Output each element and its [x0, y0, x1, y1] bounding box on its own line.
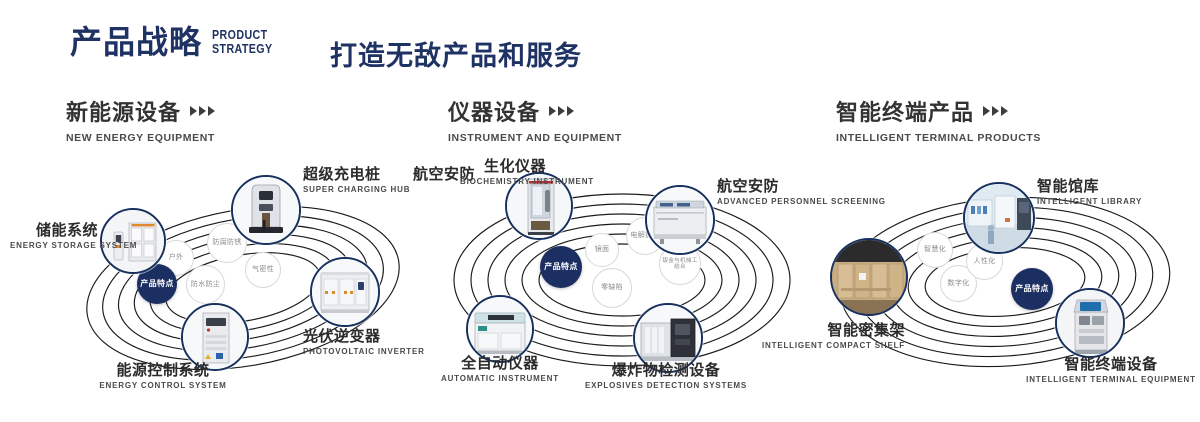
- node-label-cn: 生化仪器: [460, 158, 570, 175]
- cluster-intelligent-terminal: 智慧化 数字化 人性化 产品特点 智能馆库 INTELLIGENT: [815, 160, 1200, 420]
- product-strategy-infographic: 产品战略 PRODUCT STRATEGY 打造无敌产品和服务 新能源设备 NE…: [0, 0, 1200, 422]
- node-label-en: ENERGY STORAGE SYSTEM: [10, 241, 98, 251]
- node-caption-automatic-instrument: 全自动仪器 AUTOMATIC INSTRUMENT: [425, 355, 575, 384]
- core-bubble: 产品特点: [1011, 268, 1053, 310]
- screening-machine-icon: [647, 187, 713, 253]
- node-label-cn: 智能馆库: [1037, 178, 1142, 195]
- cluster-new-energy: 户外 防腐防锈 防水防尘 气密性 产品特点 储能系统 ENERGY STORAG…: [55, 160, 455, 420]
- section-heading-en: INSTRUMENT AND EQUIPMENT: [448, 132, 622, 144]
- node-label-en: EXPLOSIVES DETECTION SYSTEMS: [576, 381, 756, 391]
- node-bubble-compact-shelf[interactable]: [830, 238, 908, 316]
- control-cabinet-icon: [183, 305, 247, 369]
- node-label-cn: 光伏逆变器: [303, 328, 425, 345]
- section-heading-intelligent-terminal: 智能终端产品 INTELLIGENT TERMINAL PRODUCTS: [836, 95, 1041, 144]
- headline: 打造无敌产品和服务: [330, 34, 582, 73]
- section-heading-cn: 仪器设备: [448, 95, 622, 127]
- node-caption-intelligent-library: 智能馆库 INTELLIGENT LIBRARY: [1037, 178, 1142, 207]
- feature-bubble: 气密性: [245, 252, 281, 288]
- node-caption-energy-control: 能源控制系统 ENERGY CONTROL SYSTEM: [73, 362, 253, 391]
- feature-bubble: 智慧化: [917, 232, 953, 268]
- section-heading-cn: 智能终端产品: [836, 95, 1041, 127]
- library-interior-icon: [965, 184, 1033, 252]
- section-heading-en: INTELLIGENT TERMINAL PRODUCTS: [836, 132, 1041, 144]
- node-label-en: INTELLIGENT LIBRARY: [1037, 197, 1142, 207]
- section-heading-cn-text: 智能终端产品: [836, 95, 974, 127]
- cluster-instrument: 镜面 电解抛光 钣金与机械工结合 零缺陷 产品特点 航空安防 生化仪器 BIOC…: [430, 160, 830, 420]
- feature-bubble: 镜面: [585, 233, 619, 267]
- node-label-cn: 爆炸物检测设备: [576, 362, 756, 379]
- node-label-cn: 全自动仪器: [425, 355, 575, 372]
- node-label-en: AUTOMATIC INSTRUMENT: [425, 374, 575, 384]
- section-heading-cn: 新能源设备: [66, 95, 215, 127]
- brand-title-en-line1: PRODUCT: [212, 28, 273, 42]
- section-heading-cn-text: 仪器设备: [448, 95, 540, 127]
- feature-bubble: 防水防尘: [186, 265, 225, 304]
- section-heading-en: NEW ENERGY EQUIPMENT: [66, 132, 215, 144]
- section-heading-instrument: 仪器设备 INSTRUMENT AND EQUIPMENT: [448, 95, 622, 144]
- brand-title-cn: 产品战略: [70, 26, 202, 58]
- node-caption-terminal-equipment: 智能终端设备 INTELLIGENT TERMINAL EQUIPMENT: [1011, 356, 1200, 385]
- node-bubble-automatic-instrument[interactable]: [466, 295, 534, 363]
- section-heading-new-energy: 新能源设备 NEW ENERGY EQUIPMENT: [66, 95, 215, 144]
- node-bubble-pv-inverter[interactable]: [310, 257, 380, 327]
- brand-title-en-line2: STRATEGY: [212, 42, 273, 56]
- node-label-en: ENERGY CONTROL SYSTEM: [73, 381, 253, 391]
- node-bubble-charging-hub[interactable]: [231, 175, 301, 245]
- node-bubble-energy-control[interactable]: [181, 303, 249, 371]
- charging-pile-icon: [233, 177, 299, 243]
- node-label-cn: 储能系统: [10, 222, 98, 239]
- node-caption-pv-inverter: 光伏逆变器 PHOTOVOLTAIC INVERTER: [303, 328, 425, 357]
- node-caption-biochemistry: 生化仪器 BIOCHEMISTRY INSTRUMENT: [460, 158, 570, 187]
- node-label-en: INTELLIGENT COMPACT SHELF: [755, 341, 905, 351]
- node-label-cn: 能源控制系统: [73, 362, 253, 379]
- chevron-right-icon: [190, 106, 215, 116]
- automatic-instrument-icon: [468, 297, 532, 361]
- node-bubble-intelligent-library[interactable]: [963, 182, 1035, 254]
- compact-shelf-icon: [832, 240, 906, 314]
- node-bubble-personnel-screening[interactable]: [645, 185, 715, 255]
- node-label-en: PHOTOVOLTAIC INVERTER: [303, 347, 425, 357]
- core-bubble: 产品特点: [540, 246, 582, 288]
- node-label-en: BIOCHEMISTRY INSTRUMENT: [460, 177, 570, 187]
- node-caption-energy-storage: 储能系统 ENERGY STORAGE SYSTEM: [10, 222, 98, 251]
- node-label-en: SUPER CHARGING HUB: [303, 185, 410, 195]
- node-label-cn: 智能终端设备: [1011, 356, 1200, 373]
- node-caption-compact-shelf: 智能密集架 INTELLIGENT COMPACT SHELF: [755, 322, 905, 351]
- self-service-kiosk-icon: [1057, 290, 1123, 356]
- node-caption-explosives-detection: 爆炸物检测设备 EXPLOSIVES DETECTION SYSTEMS: [576, 362, 756, 391]
- inverter-cabinet-icon: [312, 259, 378, 325]
- chevron-right-icon: [549, 106, 574, 116]
- chevron-right-icon: [983, 106, 1008, 116]
- brand-title-en: PRODUCT STRATEGY: [212, 28, 273, 55]
- brand-header: 产品战略 PRODUCT STRATEGY: [70, 26, 286, 58]
- feature-bubble: 零缺陷: [592, 268, 632, 308]
- node-label-cn: 智能密集架: [755, 322, 905, 339]
- section-heading-cn-text: 新能源设备: [66, 95, 181, 127]
- node-label-en: INTELLIGENT TERMINAL EQUIPMENT: [1011, 375, 1200, 385]
- node-bubble-terminal-equipment[interactable]: [1055, 288, 1125, 358]
